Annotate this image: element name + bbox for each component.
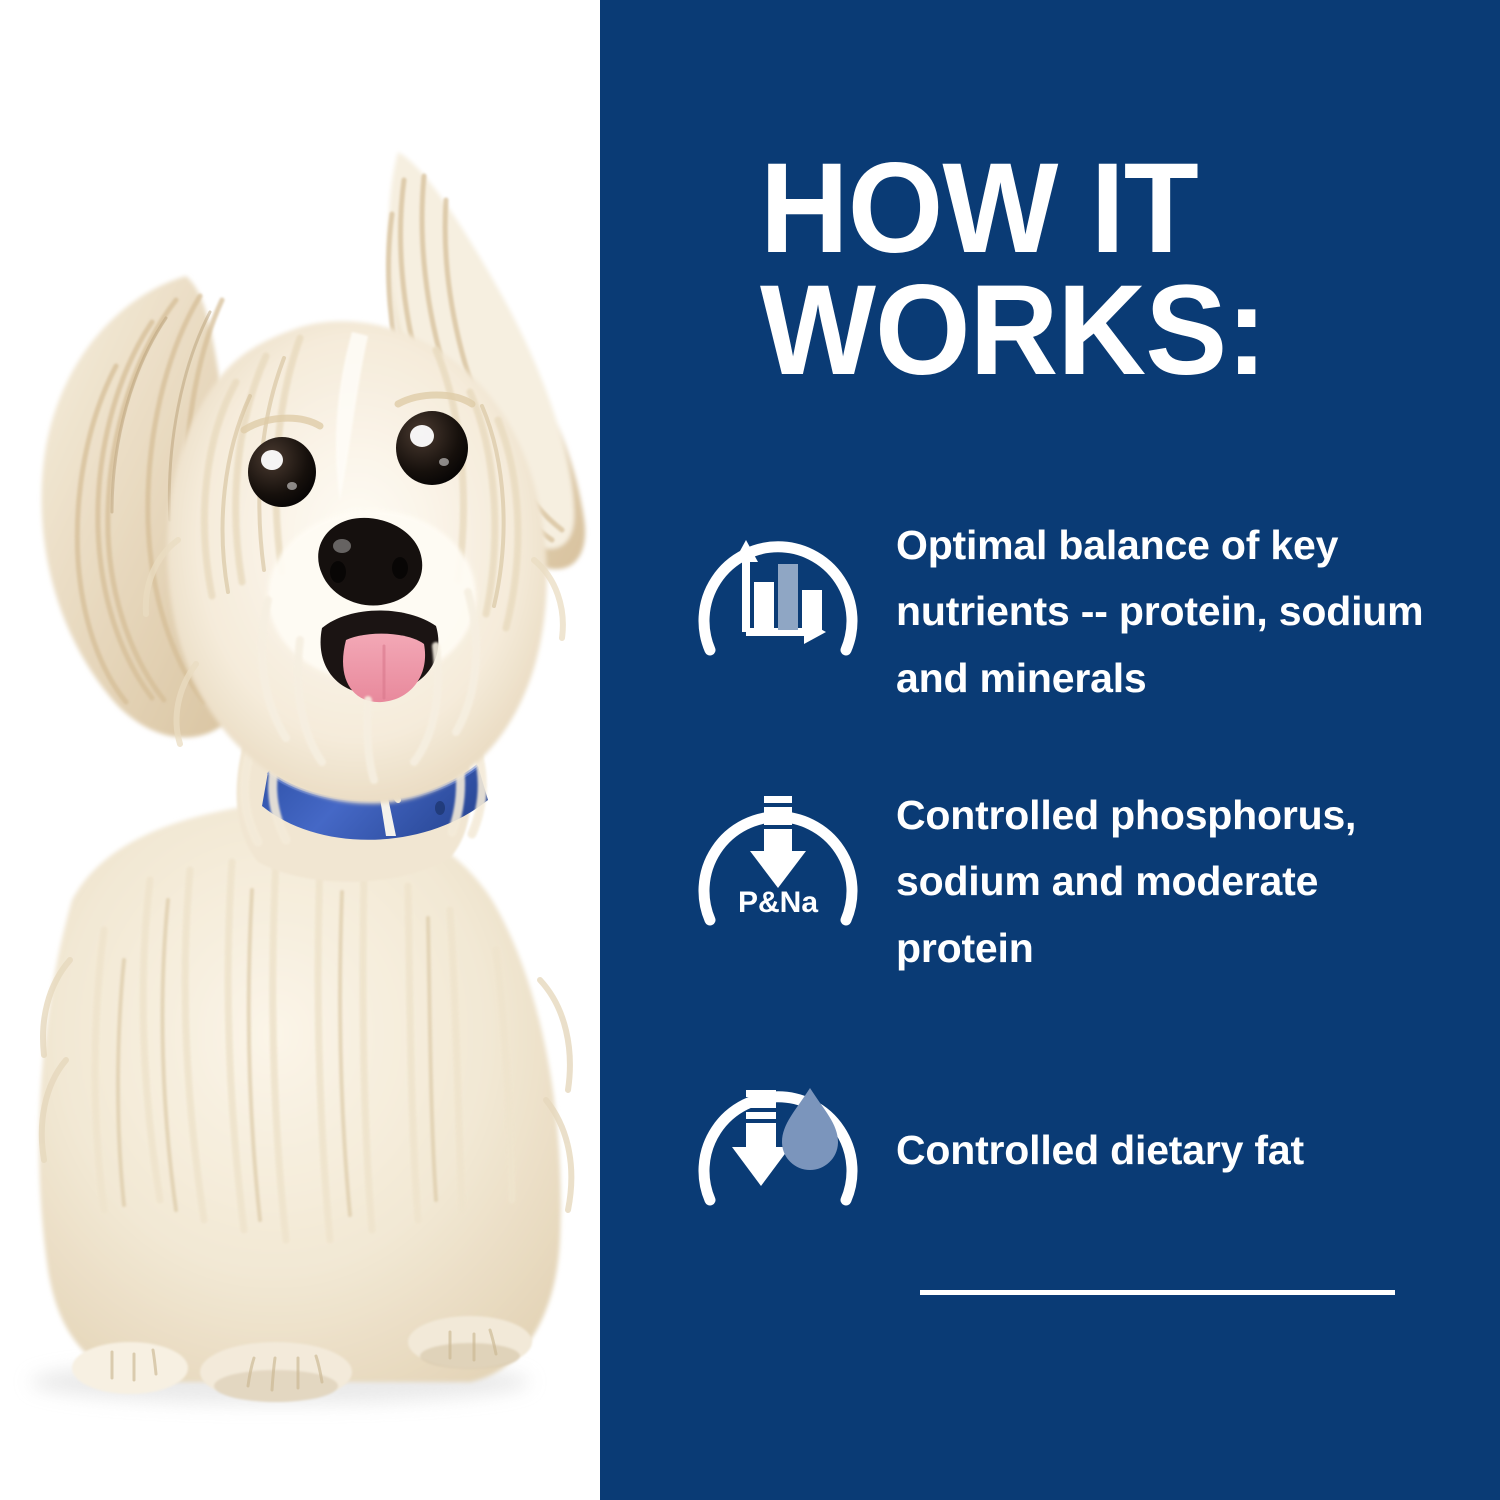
feature-text: Controlled dietary fat bbox=[868, 1117, 1500, 1183]
feature-text: Optimal balance of key nutrients -- prot… bbox=[868, 500, 1500, 711]
feature-divider bbox=[920, 1290, 1395, 1295]
icon-label: P&Na bbox=[738, 886, 818, 919]
feature-list: Optimal balance of key nutrients -- prot… bbox=[600, 500, 1500, 1240]
bar-chart-arc-icon bbox=[688, 500, 868, 680]
down-arrow-p-and-na-arc-icon: P&Na bbox=[688, 770, 868, 950]
feature-item-nutrient-balance: Optimal balance of key nutrients -- prot… bbox=[600, 500, 1500, 770]
page-title: HOW IT WORKS: bbox=[760, 148, 1451, 391]
dog-photo bbox=[0, 0, 600, 1500]
info-panel: HOW IT WORKS: bbox=[600, 0, 1500, 1500]
feature-text: Controlled phosphorus, sodium and modera… bbox=[868, 770, 1500, 981]
dog-illustration bbox=[0, 0, 600, 1500]
down-arrow-droplet-arc-icon bbox=[688, 1060, 868, 1240]
dog-photo-panel bbox=[0, 0, 600, 1500]
feature-item-controlled-phosphorus: P&Na Controlled phosphorus, sodium and m… bbox=[600, 770, 1500, 1060]
how-it-works-poster: HOW IT WORKS: bbox=[0, 0, 1500, 1500]
feature-item-controlled-fat: Controlled dietary fat bbox=[600, 1060, 1500, 1240]
